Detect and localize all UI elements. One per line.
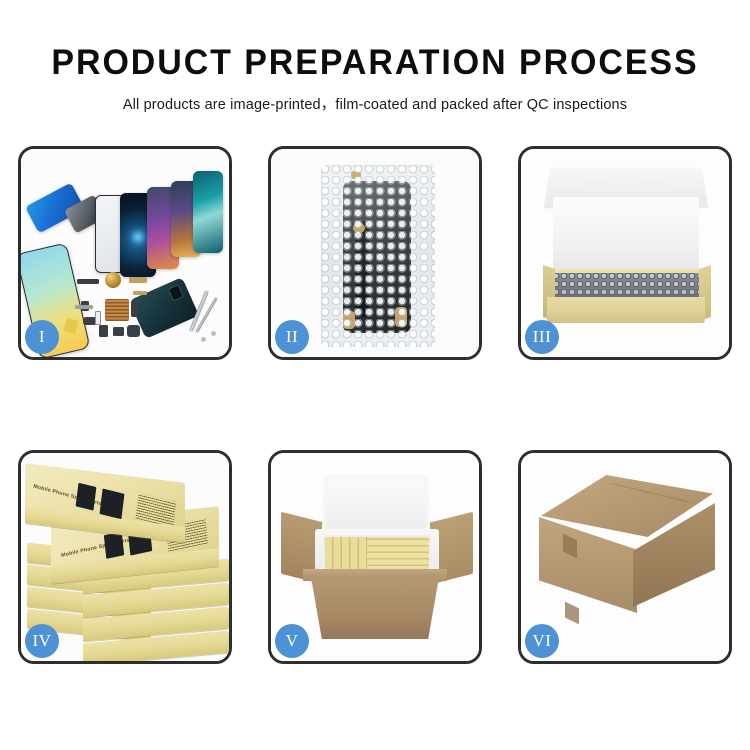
process-step-4[interactable]: Mobile Phone Spare Parts Mobile Phone Sp… (18, 450, 232, 664)
yellow-boxes-stack (367, 537, 429, 571)
small-part (131, 301, 138, 317)
process-step-3[interactable]: III (518, 146, 732, 360)
vibration-motor-part (105, 272, 121, 288)
small-part (77, 279, 99, 284)
flex-cable (129, 277, 147, 283)
copper-mesh-part (105, 299, 129, 321)
page-title: PRODUCT PREPARATION PROCESS (11, 45, 739, 80)
step-badge-5: V (275, 624, 309, 658)
process-step-1[interactable]: I (18, 146, 232, 360)
flex-cable (133, 291, 147, 295)
box-front-wall (547, 297, 705, 323)
product-preparation-infographic: PRODUCT PREPARATION PROCESS All products… (0, 0, 750, 750)
step-badge-2: II (275, 320, 309, 354)
process-step-grid: I II (18, 146, 732, 664)
small-part (99, 325, 108, 337)
header: PRODUCT PREPARATION PROCESS All products… (0, 0, 750, 114)
styrofoam-lid (322, 474, 431, 535)
step-badge-3: III (525, 320, 559, 354)
small-part (75, 305, 93, 309)
process-step-5[interactable]: V (268, 450, 482, 664)
small-part (95, 311, 101, 325)
step-badge-1: I (25, 320, 59, 354)
process-step-2[interactable]: II (268, 146, 482, 360)
step-badge-4: IV (25, 624, 59, 658)
phone-display-teal (193, 171, 223, 253)
page-subtitle: All products are image-printed，film-coat… (0, 93, 750, 114)
process-step-6[interactable]: VI (518, 450, 732, 664)
carton-body (305, 575, 445, 639)
step-badge-6: VI (525, 624, 559, 658)
bubble-wrap-bag (321, 165, 435, 347)
screw (201, 337, 206, 342)
screw (211, 331, 216, 336)
small-part (113, 327, 124, 336)
white-foam-sheet (553, 197, 699, 279)
bubble-texture (321, 165, 435, 347)
small-part (127, 325, 140, 337)
